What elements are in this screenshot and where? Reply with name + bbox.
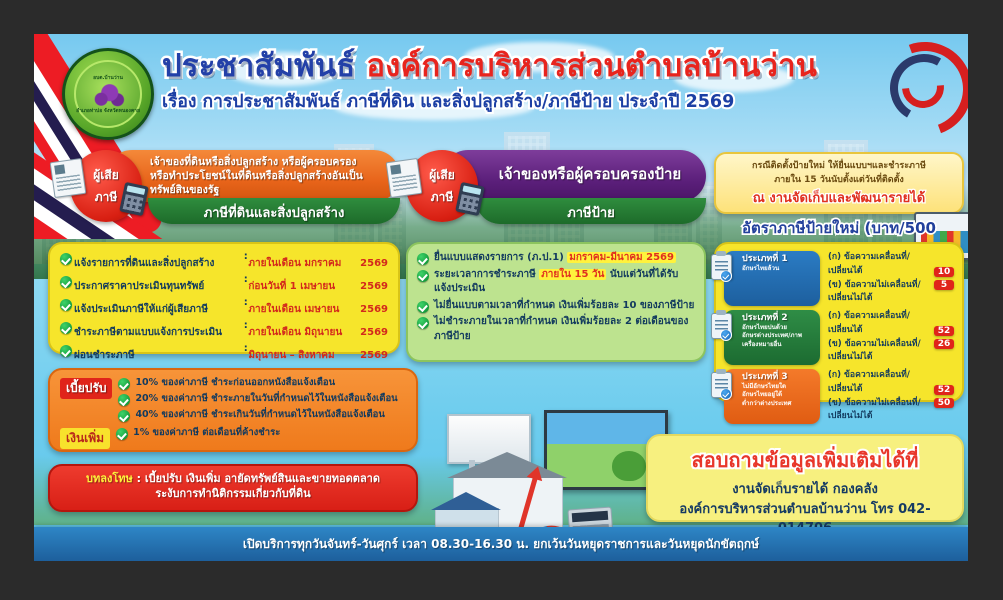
rate-row-label: (ข) ข้อความไม่เคลื่อนที่/เปลี่ยนไม่ได้ [828, 338, 934, 366]
sign-tax-rules-box: ยื่นแบบแสดงรายการ (ภ.ป.1) มกราคม-มีนาคม … [406, 242, 706, 362]
schedule-task: แจ้งประเมินภาษีให้แก่ผู้เสียภาษี [74, 304, 208, 315]
table-row: แจ้งประเมินภาษีให้แก่ผู้เสียภาษี : ภายใน… [60, 297, 388, 320]
schedule-year: 2569 [360, 327, 388, 338]
fine-item: 40% ของค่าภาษี ชำระเกินวันที่กำหนดไว้ในห… [135, 408, 384, 421]
small-house-roof [431, 492, 501, 510]
category-subtitle: อักษรไทยปนด้วย [742, 324, 816, 332]
land-tax-payer-description-bar: เจ้าของที่ดินหรือสิ่งปลูกสร้าง หรือผู้คร… [106, 150, 400, 202]
rate-value: 26 [934, 339, 954, 349]
rate-value: 10 [934, 267, 954, 277]
rate-row-label: (ก) ข้อความเคลื่อนที่/เปลี่ยนได้ [828, 310, 934, 338]
sign-tax-section-label: ภาษีป้าย [476, 202, 706, 223]
category-values: 52 26 [934, 310, 954, 365]
sign-rate-category: ประเภทที่ 2 อักษรไทยปนด้วย อักษรต่างประเ… [724, 310, 954, 365]
category-subtitle: อักษรต่างประเทศ/ภาพ [742, 332, 816, 340]
list-item: ระยะเวลาการชำระภาษี ภายใน 15 วัน นับแต่ว… [417, 268, 695, 297]
emblem-inner-ring: อบต.บ้านว่าน อำเภอท่าบ่อ จังหวัดหนองคาย [74, 60, 142, 128]
sign-rule-pre: ระยะเวลาการชำระภาษี [434, 269, 536, 280]
check-badge-icon [720, 329, 732, 341]
check-icon [60, 299, 72, 311]
header: ประชาสัมพันธ์ องค์การบริหารส่วนตำบลบ้านว… [162, 50, 960, 115]
category-badge: ประเภทที่ 1 อักษรไทยล้วน [724, 251, 820, 306]
sign-rule-highlight: มกราคม-มีนาคม 2569 [567, 252, 676, 263]
footer-bar: เปิดบริการทุกวันจันทร์-วันศุกร์ เวลา 08.… [34, 527, 968, 561]
sign-rule-highlight: ภายใน 15 วัน [539, 269, 606, 280]
check-icon [118, 410, 130, 422]
category-title: ประเภทที่ 2 [742, 313, 816, 324]
rate-row-label: (ข) ข้อความไม่เคลื่อนที่/เปลี่ยนไม่ได้ [828, 397, 934, 425]
page-title: ประชาสัมพันธ์ องค์การบริหารส่วนตำบลบ้านว… [162, 50, 960, 83]
fine-tag: เบี้ยปรับ [60, 378, 112, 399]
sign-payer-description: เจ้าของหรือผู้ครอบครองป้าย [482, 164, 698, 184]
list-item: 10% ของค่าภาษี ชำระก่อนออกหนังสือแจ้งเตื… [118, 376, 406, 390]
contact-title: สอบถามข้อมูลเพิ่มเติมได้ที่ [658, 444, 952, 476]
category-badge: ประเภทที่ 2 อักษรไทยปนด้วย อักษรต่างประเ… [724, 310, 820, 365]
house-roof [447, 452, 567, 478]
check-badge-icon [720, 388, 732, 400]
check-icon [60, 253, 72, 265]
schedule-when: ภายในเดือน มกราคม [248, 258, 341, 269]
category-rows: (ก) ข้อความเคลื่อนที่/เปลี่ยนได้ (ข) ข้อ… [820, 251, 934, 306]
punishment-tag: บทลงโทษ [86, 472, 133, 485]
schedule-task: ประกาศราคาประเมินทุนทรัพย์ [74, 281, 204, 292]
payer-desc-line: ทรัพย์สินของรัฐ [150, 183, 392, 197]
page-subtitle: เรื่อง การประชาสัมพันธ์ ภาษีที่ดิน และสิ… [162, 87, 960, 115]
schedule-when: มิถุนายน – สิงหาคม [248, 350, 334, 361]
check-icon [60, 276, 72, 288]
rate-row-label: (ก) ข้อความเคลื่อนที่/เปลี่ยนได้ [828, 251, 934, 279]
check-badge-icon [720, 270, 732, 282]
punishment-line2: ระงับการทำนิติกรรมเกี่ยวกับที่ดิน [60, 486, 406, 501]
check-icon [118, 378, 130, 390]
new-sign-note-line3: ณ งานจัดเก็บและพัฒนารายได้ [724, 187, 954, 208]
check-icon [417, 270, 429, 282]
check-icon [417, 253, 429, 265]
list-item: ยื่นแบบแสดงรายการ (ภ.ป.1) มกราคม-มีนาคม … [417, 251, 695, 266]
contact-box: สอบถามข้อมูลเพิ่มเติมได้ที่ งานจัดเก็บรา… [646, 434, 964, 522]
list-item: 40% ของค่าภาษี ชำระเกินวันที่กำหนดไว้ในห… [118, 408, 406, 422]
list-item: ไม่ชำระภายในเวลาที่กำหนด เงินเพิ่มร้อยละ… [417, 315, 695, 344]
new-sign-note-line2: ภายใน 15 วันนับตั้งแต่วันที่ติดตั้ง [724, 174, 954, 188]
schedule-year: 2569 [360, 304, 388, 315]
clipboard-icon [711, 372, 732, 398]
schedule-year: 2569 [360, 281, 388, 292]
title-part-2: องค์การบริหารส่วนตำบลบ้านว่าน [366, 48, 817, 84]
check-icon [60, 345, 72, 357]
category-values: 10 5 [934, 251, 954, 306]
payer-desc-line: เจ้าของที่ดินหรือสิ่งปลูกสร้าง หรือผู้คร… [150, 155, 392, 169]
poster-canvas: อบต.บ้านว่าน อำเภอท่าบ่อ จังหวัดหนองคาย … [34, 34, 968, 561]
rate-row-label: (ก) ข้อความเคลื่อนที่/เปลี่ยนได้ [828, 369, 934, 397]
category-title: ประเภทที่ 1 [742, 254, 816, 265]
category-values: 52 50 [934, 369, 954, 424]
land-tax-section-label: ภาษีที่ดินและสิ่งปลูกสร้าง [148, 202, 400, 223]
check-icon [60, 322, 72, 334]
table-row: ชำระภาษีตามแบบแจ้งการประเมิน : ภายในเดือ… [60, 320, 388, 343]
table-row: ประกาศราคาประเมินทุนทรัพย์ : ก่อนวันที่ … [60, 274, 388, 297]
sign-rate-table-box: ประเภทที่ 1 อักษรไทยล้วน (ก) ข้อความเคลื… [714, 242, 964, 402]
municipality-emblem: อบต.บ้านว่าน อำเภอท่าบ่อ จังหวัดหนองคาย [62, 48, 154, 140]
list-item: 1% ของค่าภาษี ต่อเดือนที่ค้างชำระ [116, 426, 406, 440]
list-item: ไม่ยื่นแบบตามเวลาที่กำหนด เงินเพิ่มร้อยล… [417, 299, 695, 314]
punishment-text: : เบี้ยปรับ เงินเพิ่ม อายัดทรัพย์สินและข… [137, 472, 380, 485]
document-icon [386, 158, 423, 198]
footer-text: เปิดบริการทุกวันจันทร์-วันศุกร์ เวลา 08.… [243, 535, 759, 554]
category-subtitle: เครื่องหมายอื่น [742, 341, 816, 349]
fine-item: 10% ของค่าภาษี ชำระก่อนออกหนังสือแจ้งเตื… [135, 376, 335, 389]
schedule-when: ภายในเดือน มิถุนายน [248, 327, 342, 338]
rate-row-label: (ข) ข้อความไม่เคลื่อนที่/เปลี่ยนไม่ได้ [828, 279, 934, 307]
payer-desc-line: หรือทำประโยชน์ในที่ดินหรือสิ่งปลูกสร้างอ… [150, 169, 392, 183]
category-subtitle: ไม่มีอักษรไทยใด [742, 383, 816, 391]
punishment-box: บทลงโทษ : เบี้ยปรับ เงินเพิ่ม อายัดทรัพย… [48, 464, 418, 512]
emblem-glyph-icon [91, 81, 125, 107]
surcharge-tag: เงินเพิ่ม [60, 428, 110, 449]
title-part-1: ประชาสัมพันธ์ [162, 48, 355, 84]
swirl-decoration-icon [874, 36, 966, 128]
sign-rate-category: ประเภทที่ 3 ไม่มีอักษรไทยใด อักษรไทยอยู่… [724, 369, 954, 424]
punishment-line1: บทลงโทษ : เบี้ยปรับ เงินเพิ่ม อายัดทรัพย… [60, 471, 406, 486]
check-icon [116, 428, 128, 440]
schedule-task: แจ้งรายการที่ดินและสิ่งปลูกสร้าง [74, 258, 214, 269]
rate-value: 5 [934, 280, 954, 290]
sign-rule-pre: ไม่ชำระภายในเวลาที่กำหนด เงินเพิ่มร้อยละ… [434, 316, 688, 342]
category-rows: (ก) ข้อความเคลื่อนที่/เปลี่ยนได้ (ข) ข้อ… [820, 369, 934, 424]
clipboard-icon [711, 254, 732, 280]
category-subtitle: อักษรไทยอยู่ใต้ [742, 391, 816, 399]
rate-value: 52 [934, 326, 954, 336]
land-tax-payer-banner: เจ้าของที่ดินหรือสิ่งปลูกสร้าง หรือผู้คร… [70, 150, 400, 226]
sign-rate-category: ประเภทที่ 1 อักษรไทยล้วน (ก) ข้อความเคลื… [724, 251, 954, 306]
table-row: ผ่อนชำระภาษี : มิถุนายน – สิงหาคม 2569 [60, 343, 388, 366]
check-icon [417, 317, 429, 329]
new-sign-note-line1: กรณีติดตั้งป้ายใหม่ ให้ยื่นแบบฯและชำระภา… [724, 160, 954, 174]
new-sign-note-box: กรณีติดตั้งป้ายใหม่ ให้ยื่นแบบฯและชำระภา… [714, 152, 964, 214]
table-row: แจ้งรายการที่ดินและสิ่งปลูกสร้าง : ภายใน… [60, 251, 388, 274]
schedule-when: ก่อนวันที่ 1 เมษายน [248, 281, 335, 292]
category-subtitle: อักษรไทยล้วน [742, 265, 816, 273]
list-item: 20% ของค่าภาษี ชำระภายในวันที่กำหนดไว้ใน… [118, 392, 406, 406]
emblem-bottom-text: อำเภอท่าบ่อ จังหวัดหนองคาย [76, 107, 140, 115]
clipboard-icon [711, 313, 732, 339]
penalty-box: เบี้ยปรับ 10% ของค่าภาษี ชำระก่อนออกหนัง… [48, 368, 418, 452]
sign-tax-payer-banner: เจ้าของหรือผู้ครอบครองป้าย ภาษีป้าย ผู้เ… [406, 150, 706, 226]
land-tax-schedule-table: แจ้งรายการที่ดินและสิ่งปลูกสร้าง : ภายใน… [60, 251, 388, 366]
contact-line1: งานจัดเก็บรายได้ กองคลัง [658, 480, 952, 500]
rate-value: 50 [934, 398, 954, 408]
check-icon [417, 301, 429, 313]
sign-rule-pre: ไม่ยื่นแบบตามเวลาที่กำหนด เงินเพิ่มร้อยล… [434, 300, 694, 311]
schedule-year: 2569 [360, 350, 388, 361]
sign-tax-section-label-bar: ภาษีป้าย [476, 198, 706, 224]
check-icon [118, 394, 130, 406]
land-tax-schedule-box: แจ้งรายการที่ดินและสิ่งปลูกสร้าง : ภายใน… [48, 242, 400, 354]
schedule-when: ภายในเดือน เมษายน [248, 304, 339, 315]
fine-item: 20% ของค่าภาษี ชำระภายในวันที่กำหนดไว้ใน… [135, 392, 397, 405]
category-title: ประเภทที่ 3 [742, 372, 816, 383]
sign-rule-pre: ยื่นแบบแสดงรายการ (ภ.ป.1) [434, 252, 564, 263]
schedule-task: ชำระภาษีตามแบบแจ้งการประเมิน [74, 327, 222, 338]
surcharge-item: 1% ของค่าภาษี ต่อเดือนที่ค้างชำระ [133, 426, 280, 439]
land-tax-section-label-bar: ภาษีที่ดินและสิ่งปลูกสร้าง [148, 198, 400, 224]
category-rows: (ก) ข้อความเคลื่อนที่/เปลี่ยนได้ (ข) ข้อ… [820, 310, 934, 365]
category-badge: ประเภทที่ 3 ไม่มีอักษรไทยใด อักษรไทยอยู่… [724, 369, 820, 424]
document-icon [50, 158, 87, 198]
calculator-icon [119, 182, 149, 216]
category-subtitle: ต่ำกว่าต่างประเทศ [742, 400, 816, 408]
schedule-task: ผ่อนชำระภาษี [74, 350, 135, 361]
schedule-year: 2569 [360, 258, 388, 269]
rate-value: 52 [934, 385, 954, 395]
